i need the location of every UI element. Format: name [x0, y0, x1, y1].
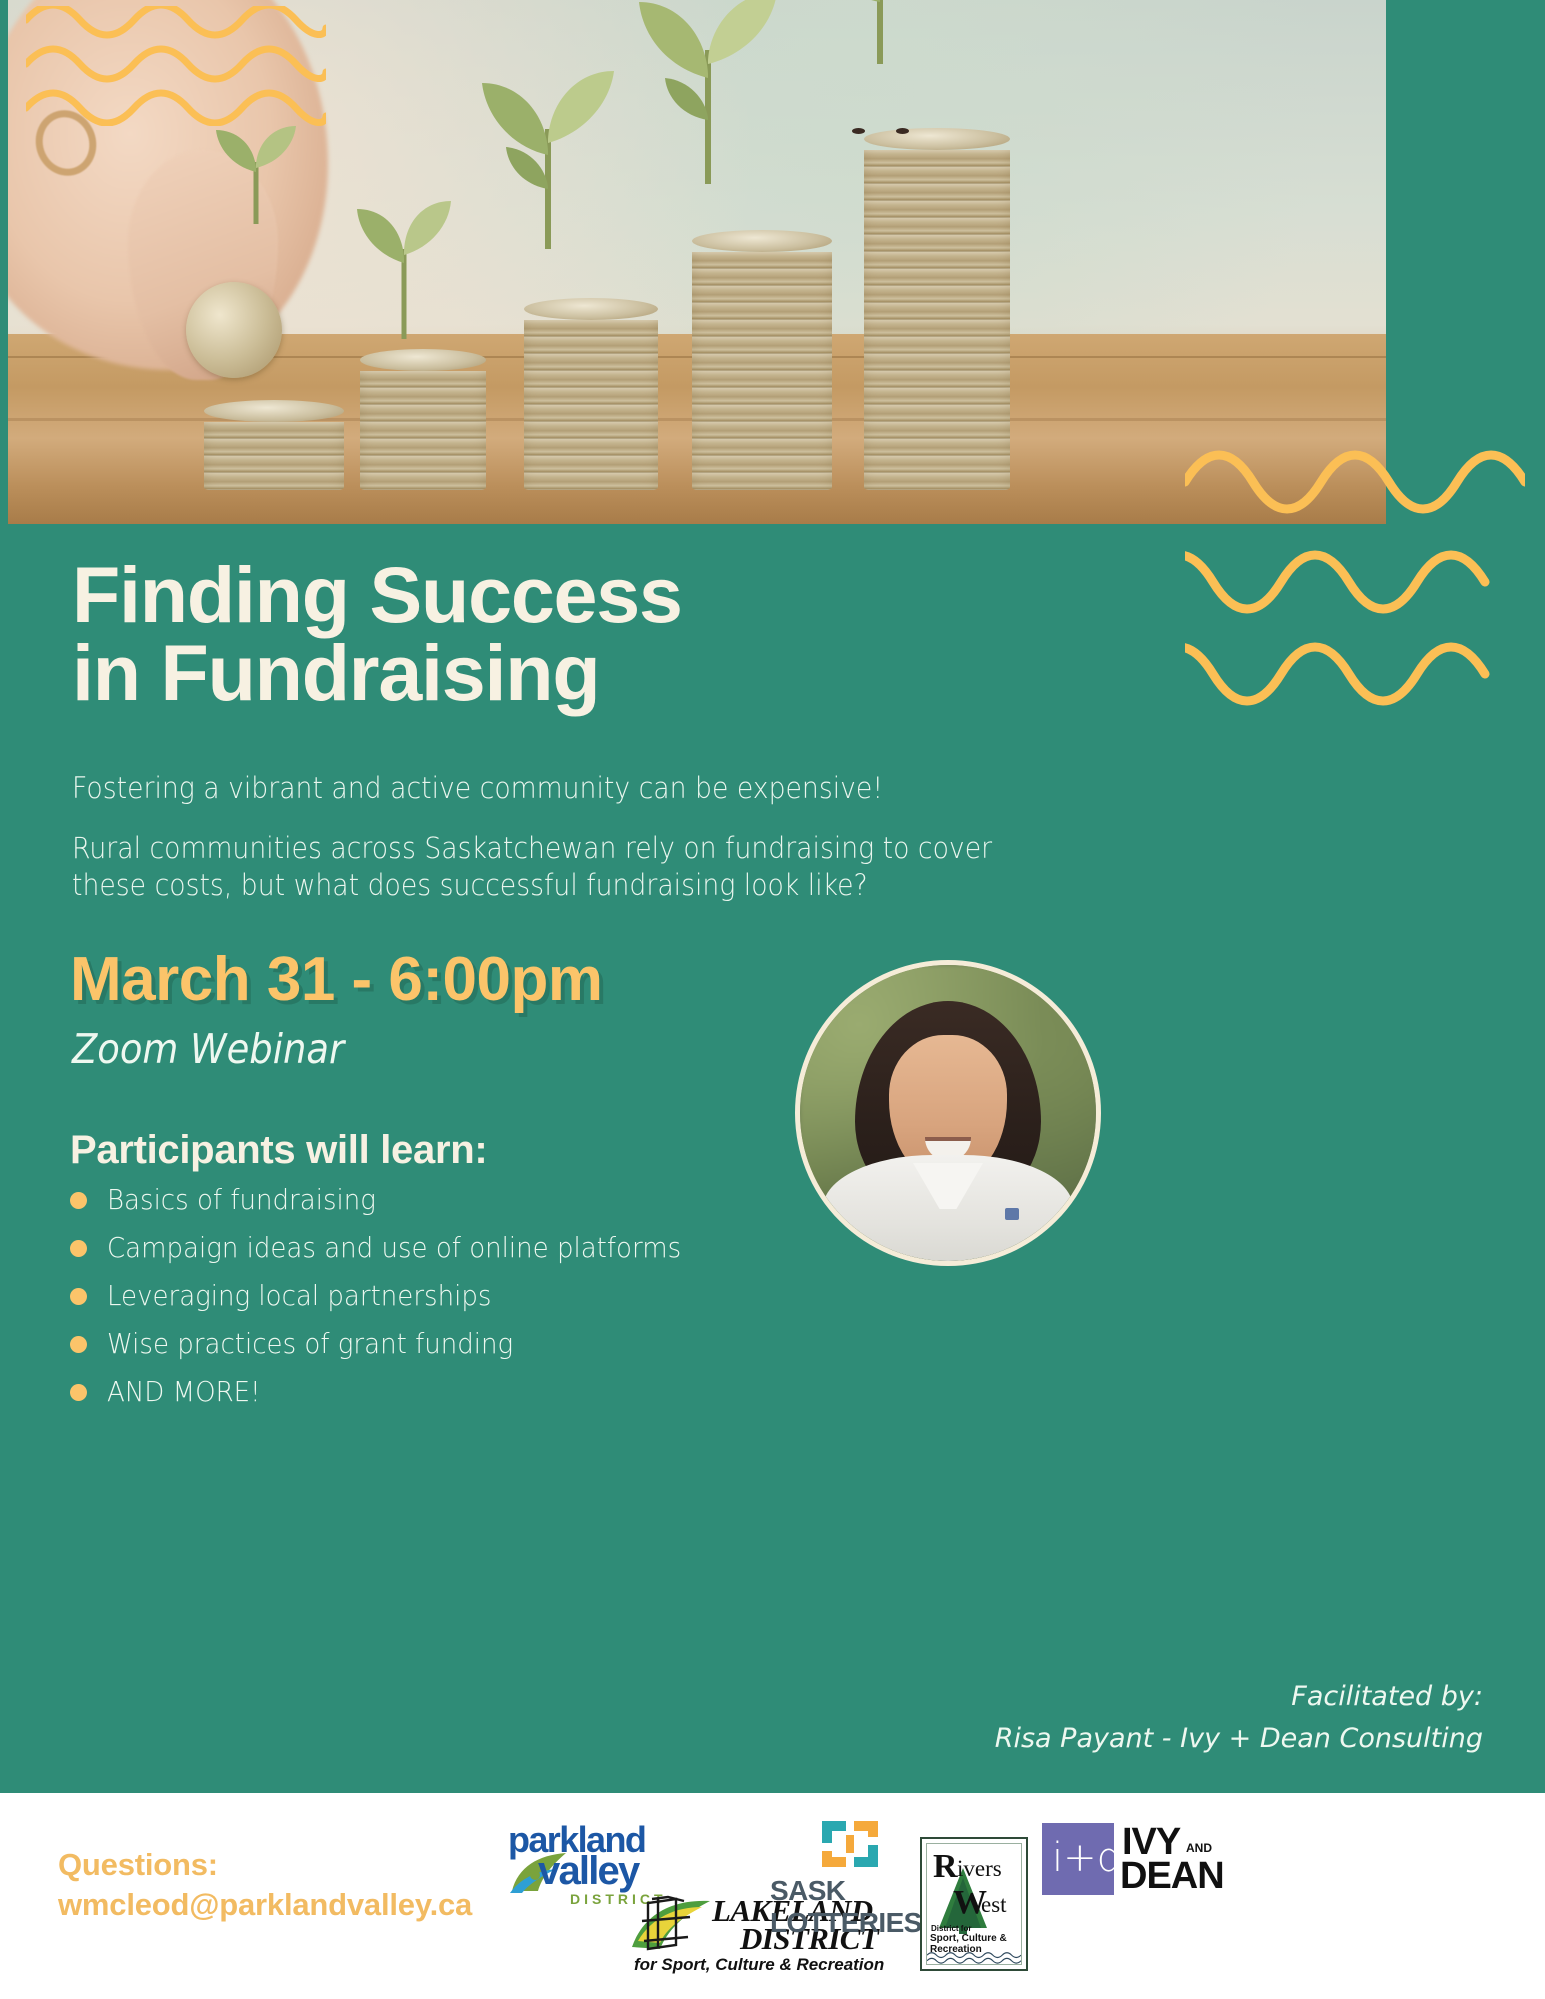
- ivy-dean-mark: i+d: [1042, 1823, 1114, 1895]
- list-item: AND MORE!: [62, 1378, 802, 1406]
- questions-block: Questions: wmcleod@parklandvalley.ca: [58, 1845, 472, 1926]
- portrait-badge: [1005, 1208, 1019, 1220]
- rivers-west-ivers: ivers: [957, 1856, 1002, 1882]
- logo-rivers-west: R ivers W est District for Sport, Cultur…: [920, 1837, 1028, 1971]
- bullet-dot-icon: [70, 1192, 87, 1209]
- poster-title: Finding Success in Fundraising: [72, 556, 972, 712]
- ivy-dean-and: AND: [1186, 1841, 1212, 1855]
- lakeland-logo-tagline: for Sport, Culture & Recreation: [634, 1955, 884, 1975]
- footer-bar: Questions: wmcleod@parklandvalley.ca par…: [0, 1793, 1545, 1999]
- bullet-dot-icon: [70, 1288, 87, 1305]
- coin: [360, 349, 486, 371]
- sprout-icon-3: [468, 59, 628, 249]
- portrait-eye-right: [896, 128, 909, 134]
- coin-stack-5: [864, 128, 1010, 490]
- list-item: Campaign ideas and use of online platfor…: [62, 1234, 802, 1262]
- list-item-label: Leveraging local partnerships: [107, 1282, 491, 1310]
- questions-label: Questions:: [58, 1845, 472, 1885]
- lakeland-mark-icon: [628, 1891, 714, 1957]
- list-item-label: AND MORE!: [107, 1378, 261, 1406]
- coin: [864, 128, 1010, 150]
- intro-paragraph-2: Rural communities across Saskatchewan re…: [72, 830, 1001, 905]
- rivers-west-frame: R ivers W est District for Sport, Cultur…: [926, 1843, 1022, 1965]
- logo-ivy-and-dean: i+d IVY AND DEAN: [1042, 1823, 1192, 1905]
- wave-decoration-top-left: [26, 6, 326, 126]
- list-item-label: Basics of fundraising: [107, 1186, 376, 1214]
- facilitator-name: Risa Payant - Ivy + Dean Consulting: [995, 1718, 1483, 1760]
- list-item: Leveraging local partnerships: [62, 1282, 802, 1310]
- event-venue: Zoom Webinar: [72, 1025, 344, 1073]
- bullet-dot-icon: [70, 1384, 87, 1401]
- coin: [524, 298, 658, 320]
- sprout-icon-2: [339, 189, 469, 339]
- sprout-icon-5: [790, 0, 970, 64]
- event-date-time: March 31 - 6:00pm: [70, 944, 603, 1015]
- coin: [692, 230, 832, 252]
- coin-stack-3: [524, 298, 658, 490]
- sask-lotteries-pinwheel-icon: [818, 1817, 882, 1871]
- learn-heading: Participants will learn:: [70, 1128, 487, 1173]
- list-item-label: Wise practices of grant funding: [107, 1330, 513, 1358]
- coin-stack-2: [360, 349, 486, 490]
- list-item-label: Campaign ideas and use of online platfor…: [107, 1234, 681, 1262]
- questions-email[interactable]: wmcleod@parklandvalley.ca: [58, 1885, 472, 1925]
- wave-decoration-middle-right: [1185, 440, 1525, 720]
- coin-stack-1: [204, 400, 344, 490]
- list-item: Wise practices of grant funding: [62, 1330, 802, 1358]
- parkland-logo-line2: valley: [538, 1849, 638, 1894]
- intro-paragraphs: Fostering a vibrant and active community…: [72, 770, 1001, 905]
- portrait-eye-left: [852, 128, 865, 134]
- coin-stack-4: [692, 230, 832, 490]
- ivy-dean-dean: DEAN: [1120, 1855, 1224, 1898]
- facilitator-credit: Facilitated by: Risa Payant - Ivy + Dean…: [995, 1676, 1483, 1760]
- facilitator-label: Facilitated by:: [995, 1676, 1483, 1718]
- poster-root: Finding Success in Fundraising Fostering…: [0, 0, 1545, 1999]
- intro-paragraph-1: Fostering a vibrant and active community…: [72, 770, 1001, 808]
- title-line-2: in Fundraising: [72, 634, 972, 712]
- ivy-dean-mark-text: i+d: [1052, 1835, 1122, 1881]
- rivers-west-est: est: [981, 1892, 1007, 1918]
- rivers-west-sub1: District for: [931, 1924, 971, 1933]
- learning-outcomes-list: Basics of fundraising Campaign ideas and…: [62, 1186, 802, 1426]
- bullet-dot-icon: [70, 1336, 87, 1353]
- bullet-dot-icon: [70, 1240, 87, 1257]
- title-line-1: Finding Success: [72, 556, 972, 634]
- list-item: Basics of fundraising: [62, 1186, 802, 1214]
- rivers-west-r: R: [933, 1848, 958, 1886]
- facilitator-portrait: [795, 960, 1101, 1266]
- water-waves-icon: [927, 1950, 1021, 1964]
- sprout-icon-4: [623, 0, 793, 184]
- sprout-icon-1: [196, 114, 316, 224]
- coin: [204, 400, 344, 422]
